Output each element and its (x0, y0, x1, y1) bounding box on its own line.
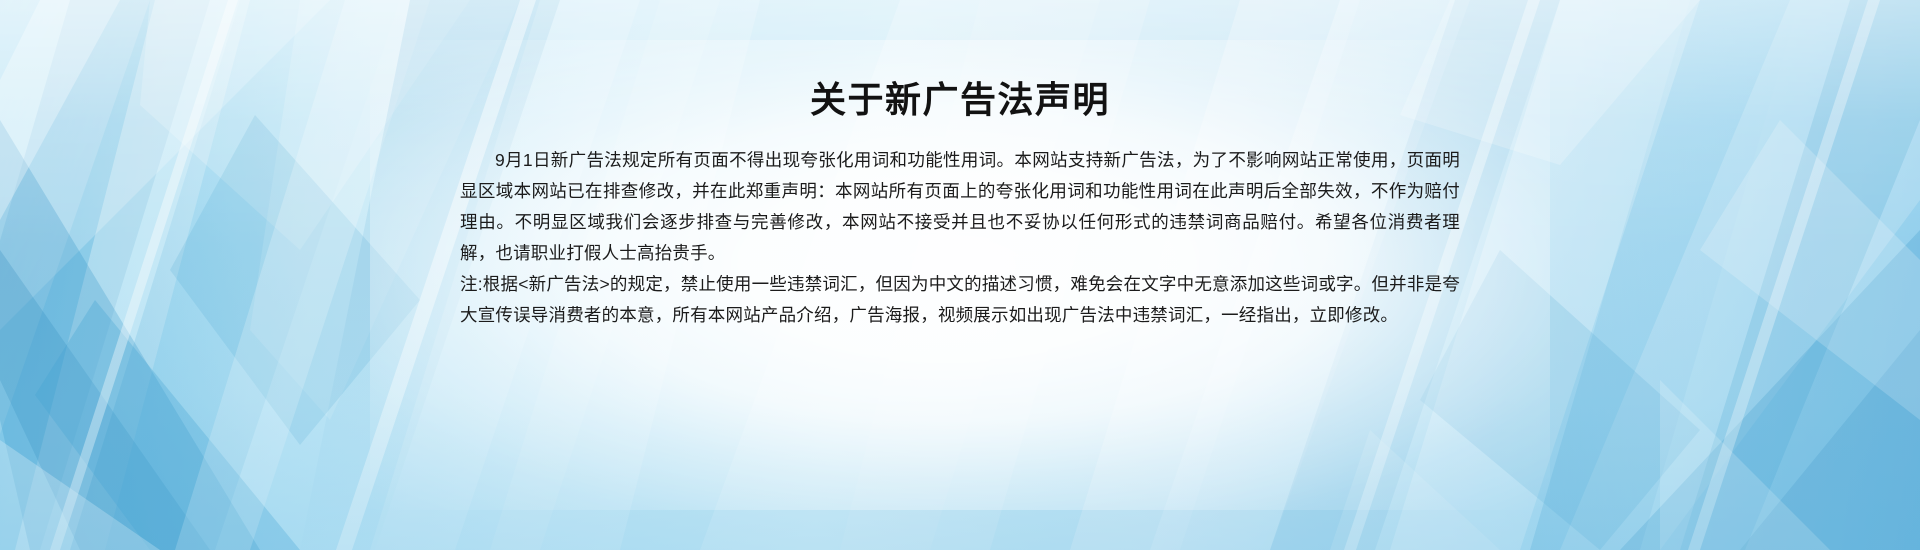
statement-paragraph-main: 9月1日新广告法规定所有页面不得出现夸张化用词和功能性用词。本网站支持新广告法，… (460, 145, 1460, 269)
advertising-law-statement-banner: 关于新广告法声明 9月1日新广告法规定所有页面不得出现夸张化用词和功能性用词。本… (0, 0, 1920, 550)
page-title: 关于新广告法声明 (460, 78, 1460, 121)
statement-paragraph-note: 注:根据<新广告法>的规定，禁止使用一些违禁词汇，但因为中文的描述习惯，难免会在… (460, 269, 1460, 331)
statement-content: 关于新广告法声明 9月1日新广告法规定所有页面不得出现夸张化用词和功能性用词。本… (460, 0, 1460, 331)
